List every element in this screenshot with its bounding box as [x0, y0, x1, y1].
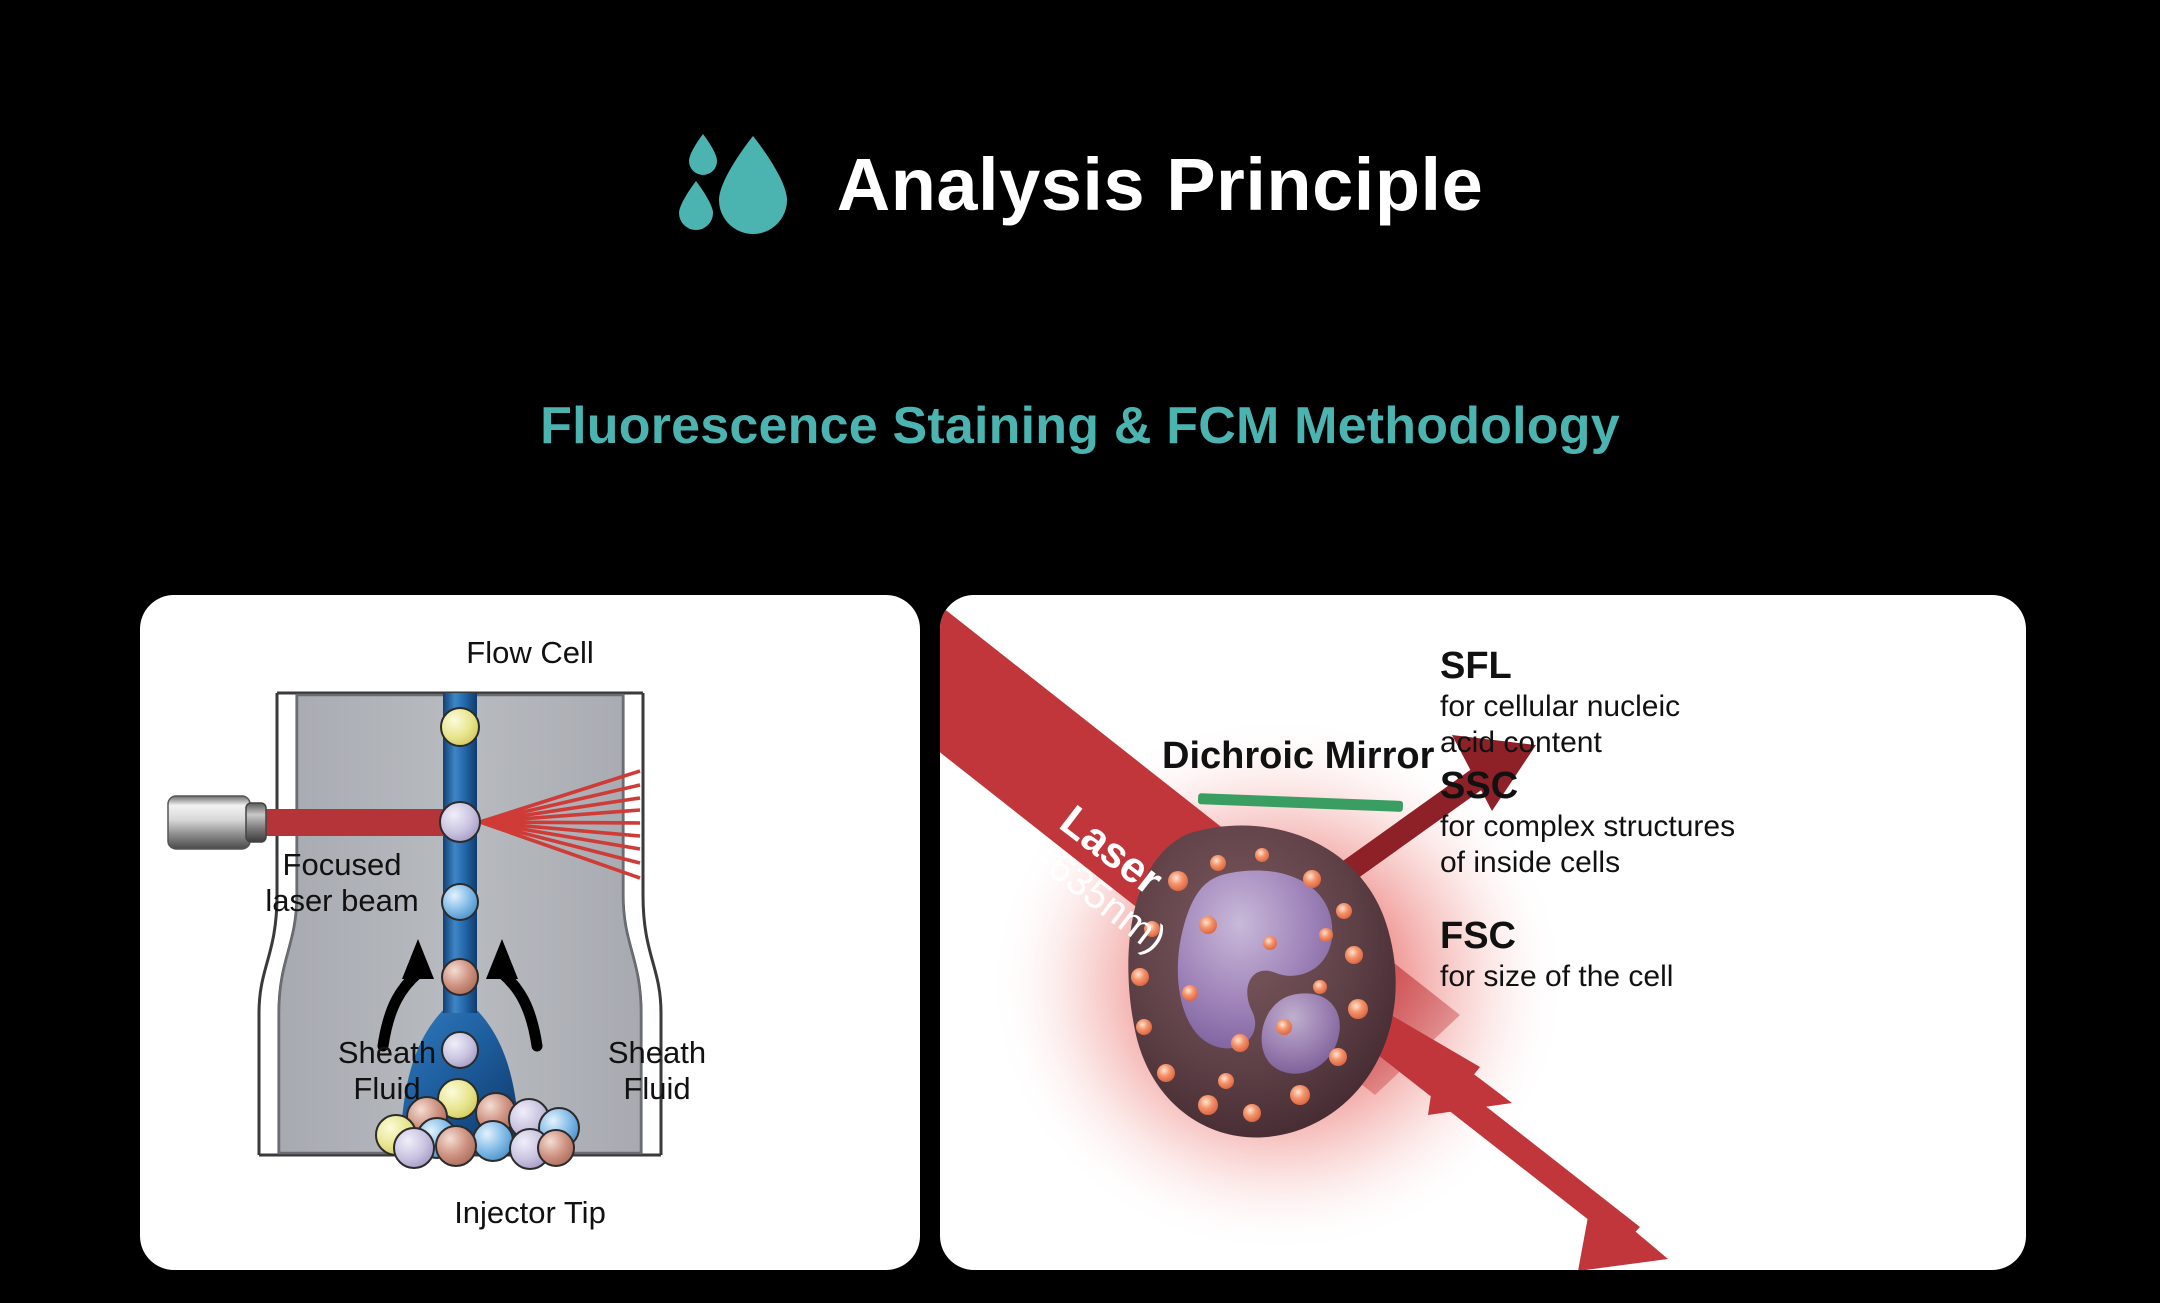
sheath-fluid-right-line1: Sheath: [572, 1035, 742, 1071]
focused-laser-beam-line1: Focused: [192, 847, 492, 883]
dichroic-mirror-label: Dichroic Mirror: [1162, 735, 1434, 778]
sheath-fluid-left-line1: Sheath: [302, 1035, 472, 1071]
fsc-abbr: FSC: [1440, 915, 1673, 959]
sfl-desc-line1: for cellular nucleic: [1440, 689, 1680, 725]
flow-cell-illustration: [140, 595, 920, 1270]
sheath-fluid-right-label: Sheath Fluid: [572, 1035, 742, 1107]
water-droplets-icon: [677, 130, 797, 240]
page-subtitle: Fluorescence Staining & FCM Methodology: [0, 396, 2160, 456]
injector-tip-label: Injector Tip: [140, 1195, 920, 1231]
sheath-fluid-right-line2: Fluid: [572, 1071, 742, 1107]
ssc-desc-line1: for complex structures: [1440, 809, 1735, 845]
focused-laser-beam-line2: laser beam: [192, 883, 492, 919]
sheath-fluid-left-label: Sheath Fluid: [302, 1035, 472, 1107]
focused-laser-beam-label: Focused laser beam: [192, 847, 492, 919]
page-header: Analysis Principle: [0, 130, 2160, 240]
ssc-desc-line2: of inside cells: [1440, 845, 1735, 881]
laser-scatter-panel: Laser (λ=635nm) Dichroic Mirror SFL for …: [940, 595, 2026, 1270]
ssc-abbr: SSC: [1440, 765, 1735, 809]
ssc-detector-label: SSC for complex structures of inside cel…: [1440, 765, 1735, 881]
page-title: Analysis Principle: [837, 148, 1484, 222]
flow-cell-panel: Flow Cell Focused laser beam Sheath Flui…: [140, 595, 920, 1270]
stained-cell: [1128, 825, 1395, 1137]
sfl-detector-label: SFL for cellular nucleic acid content: [1440, 645, 1680, 761]
sfl-abbr: SFL: [1440, 645, 1680, 689]
sfl-desc-line2: acid content: [1440, 725, 1680, 761]
flow-cell-label: Flow Cell: [140, 635, 920, 671]
sheath-fluid-left-line2: Fluid: [302, 1071, 472, 1107]
fsc-detector-label: FSC for size of the cell: [1440, 915, 1673, 995]
fsc-desc-line1: for size of the cell: [1440, 959, 1673, 995]
